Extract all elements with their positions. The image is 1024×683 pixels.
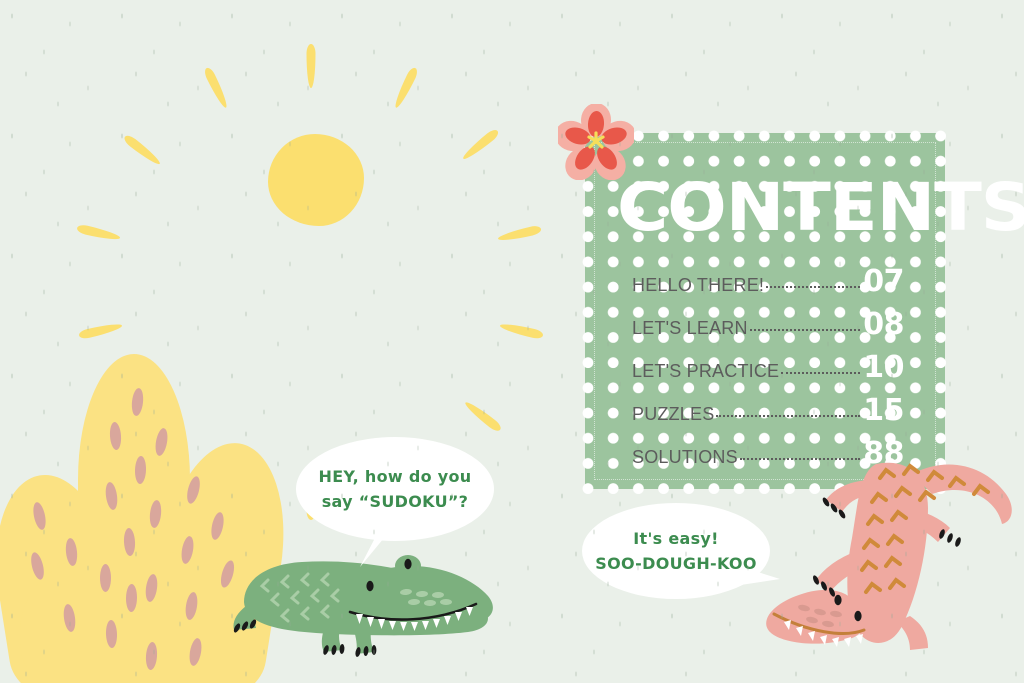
toc-leader-dots [781,372,860,374]
toc-entry-label: HELLO THERE! [632,275,764,296]
speech-line-2: say “SUDOKU”? [322,492,469,511]
page-title: CONTENTS [617,175,935,241]
toc-entry-label: LET'S PRACTICE [632,361,779,382]
toc-leader-dots [750,329,861,331]
speech-line-1: It's easy! [633,529,719,548]
pink-flower [558,104,634,180]
toc-entry-hello-there[interactable]: HELLO THERE! 07 [632,264,904,304]
sun-ray [497,225,542,244]
speech-bubble-pink-crocodile: It's easy! SOO-DOUGH-KOO [582,503,770,599]
toc-entry-puzzles[interactable]: PUZZLES 15 [632,393,904,433]
croc-green-eye-side [366,581,373,591]
sun-ray [76,224,121,243]
toc-entry-page: 10 [863,350,904,385]
toc-entry-page: 15 [863,393,904,428]
toc-entry-page: 07 [863,264,904,299]
toc-entry-label: LET'S LEARN [632,318,748,339]
sun-ray [460,127,500,162]
sun-ray [499,321,544,340]
sun-ray [463,399,503,433]
speech-bubble-green-text: HEY, how do you say “SUDOKU”? [319,464,472,514]
sun-ray [78,321,123,340]
sun-core [268,134,364,226]
speech-line-1: HEY, how do you [319,467,472,486]
toc-entry-label: PUZZLES [632,404,714,425]
toc-entry-lets-practice[interactable]: LET'S PRACTICE 10 [632,350,904,390]
book-contents-page: CONTENTS HELLO THERE! 07 LET'S LEARN 08 … [0,0,1024,683]
speech-line-2: SOO-DOUGH-KOO [595,554,757,573]
toc-entry-label: SOLUTIONS [632,447,738,468]
sun-ray [307,44,316,88]
speech-bubble-green-crocodile: HEY, how do you say “SUDOKU”? [296,437,494,541]
contents-card: CONTENTS HELLO THERE! 07 LET'S LEARN 08 … [585,133,945,489]
sun-illustration [186,48,436,304]
toc-entry-lets-learn[interactable]: LET'S LEARN 08 [632,307,904,347]
plant-speckle [100,564,111,592]
croc-pink-eye-1 [834,595,841,605]
sun-ray [203,66,230,109]
flower-center-dot [593,138,599,144]
toc-leader-dots [716,415,860,417]
speech-bubble-pink-text: It's easy! SOO-DOUGH-KOO [595,526,757,576]
toc-leader-dots [766,286,860,288]
croc-pink-eye-2 [854,611,861,621]
sun-ray [392,66,419,109]
sun-ray [122,133,162,167]
plant-base [20,552,250,683]
toc-entry-page: 08 [863,307,904,342]
